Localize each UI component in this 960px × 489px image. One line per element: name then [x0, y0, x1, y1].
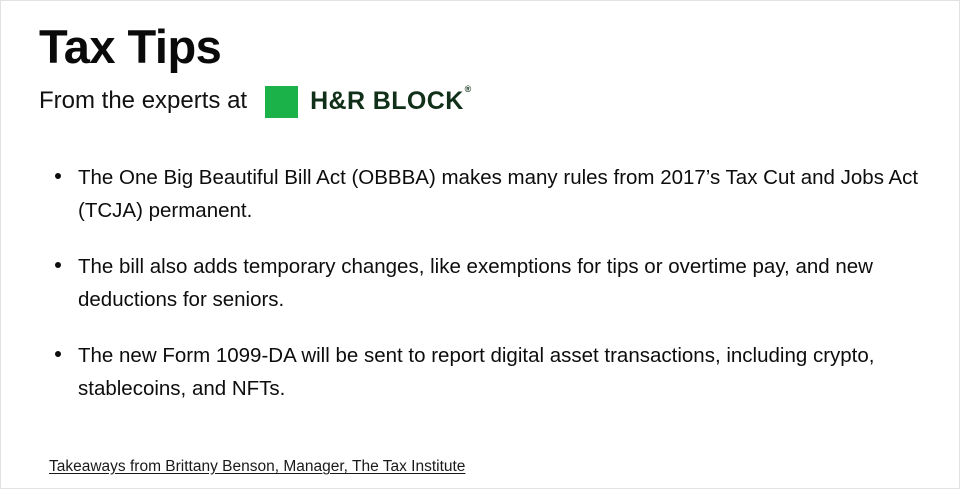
list-item-text: The One Big Beautiful Bill Act (OBBBA) m… [78, 161, 936, 227]
page-title: Tax Tips [39, 21, 929, 74]
list-item: The bill also adds temporary changes, li… [51, 250, 936, 316]
bullet-dot-icon [55, 262, 61, 268]
slide-header: Tax Tips From the experts at H&R BLOCK® [39, 21, 929, 118]
hr-block-wordmark: H&R BLOCK® [310, 89, 471, 114]
list-item-text: The new Form 1099-DA will be sent to rep… [78, 339, 936, 405]
attribution-footer: Takeaways from Brittany Benson, Manager,… [49, 456, 465, 478]
hr-block-logo: H&R BLOCK® [265, 86, 471, 118]
subtitle-row: From the experts at H&R BLOCK® [39, 84, 929, 118]
tax-tips-slide: Tax Tips From the experts at H&R BLOCK® … [0, 0, 960, 489]
takeaways-list: The One Big Beautiful Bill Act (OBBBA) m… [51, 161, 936, 405]
list-item-text: The bill also adds temporary changes, li… [78, 250, 936, 316]
subtitle-text: From the experts at [39, 89, 247, 113]
bullet-dot-icon [55, 351, 61, 357]
registered-trademark-icon: ® [465, 84, 472, 94]
list-item: The One Big Beautiful Bill Act (OBBBA) m… [51, 161, 936, 227]
hr-block-wordmark-text: H&R BLOCK [310, 87, 464, 115]
list-item: The new Form 1099-DA will be sent to rep… [51, 339, 936, 405]
hr-block-green-square-icon [265, 86, 298, 118]
bullet-dot-icon [55, 173, 61, 179]
